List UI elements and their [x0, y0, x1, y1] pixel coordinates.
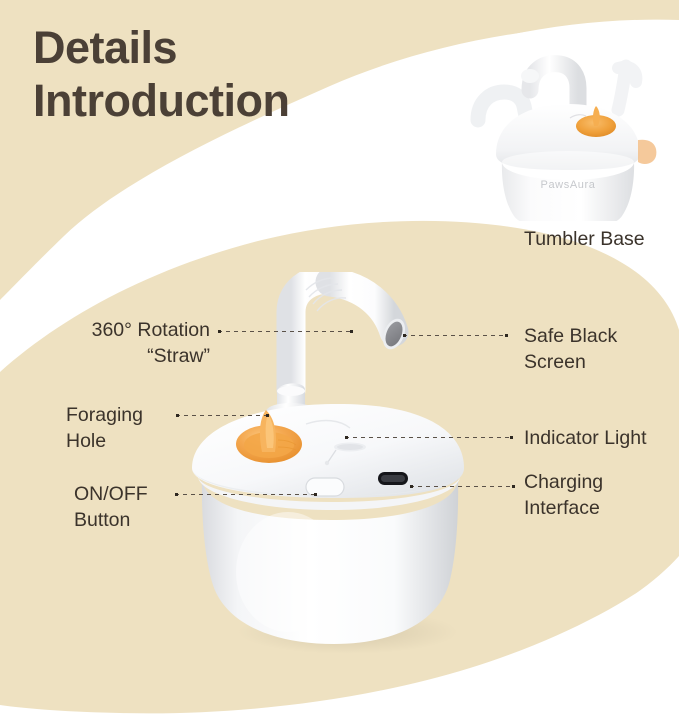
main-product-image	[178, 272, 498, 654]
tumbler-base-product-image: PawsAura	[466, 36, 671, 221]
callout-charging-interface: Charging Interface	[524, 470, 679, 521]
infographic-page: Details Introduction	[0, 0, 679, 721]
callout-indicator-light: Indicator Light	[524, 426, 679, 452]
leader-line-rotation-straw	[218, 331, 353, 332]
charging-interface-part	[378, 472, 408, 485]
leader-line-safe-black-screen	[403, 335, 508, 336]
callout-on-off-button: ON/OFF Button	[74, 482, 224, 533]
tumbler-base-caption: Tumbler Base	[524, 227, 674, 253]
page-title: Details Introduction	[33, 22, 453, 127]
callout-safe-black-screen: Safe Black Screen	[524, 324, 679, 375]
leader-line-charging-interface	[410, 486, 515, 487]
tumbler-brand-text: PawsAura	[541, 179, 596, 191]
callout-foraging-hole: Foraging Hole	[66, 403, 216, 454]
callout-rotation-straw: 360° Rotation “Straw”	[20, 318, 210, 369]
leader-line-indicator-light	[345, 437, 513, 438]
